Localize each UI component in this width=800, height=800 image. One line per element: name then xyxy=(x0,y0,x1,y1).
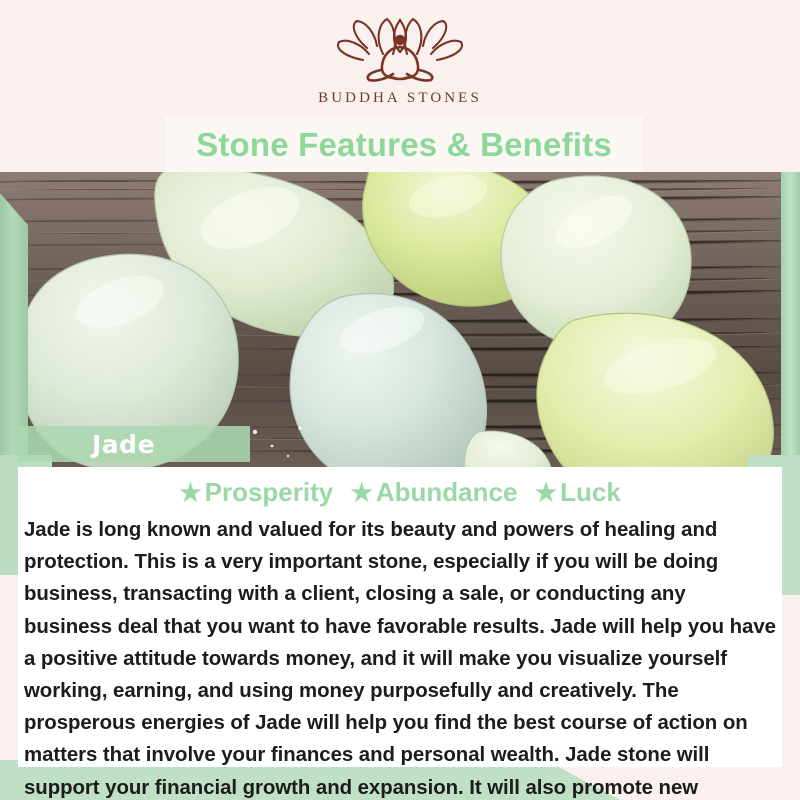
stone-description-text: Jade is long known and valued for its be… xyxy=(18,510,782,800)
brand-logo: BUDDHA STONES xyxy=(0,14,800,107)
jade-stones-photo xyxy=(0,170,800,467)
stone-description-panel: ★Prosperity ★Abundance ★Luck Jade is lon… xyxy=(18,467,782,767)
keyword-luck: ★Luck xyxy=(535,477,621,508)
star-icon: ★ xyxy=(350,479,372,507)
stone-keywords-row: ★Prosperity ★Abundance ★Luck xyxy=(18,467,782,510)
star-icon: ★ xyxy=(535,479,557,507)
keyword-label: Prosperity xyxy=(205,477,334,507)
keyword-label: Luck xyxy=(560,477,621,507)
page-title: Stone Features & Benefits xyxy=(196,126,612,164)
stone-info-card: BUDDHA STONES Stone Features & Benefits … xyxy=(0,0,800,800)
lotus-meditation-figure-icon xyxy=(325,14,475,84)
jade-stones-illustration xyxy=(0,170,800,467)
decorative-green-stripe-right xyxy=(781,168,800,468)
keyword-label: Abundance xyxy=(376,477,518,507)
stone-name-band: Jade xyxy=(18,426,250,462)
stone-name-label: Jade xyxy=(92,430,155,459)
section-title-plate: Stone Features & Benefits xyxy=(165,117,643,172)
star-icon: ★ xyxy=(179,479,201,507)
keyword-abundance: ★Abundance xyxy=(350,477,517,508)
keyword-prosperity: ★Prosperity xyxy=(179,477,333,508)
brand-name: BUDDHA STONES xyxy=(0,90,800,107)
